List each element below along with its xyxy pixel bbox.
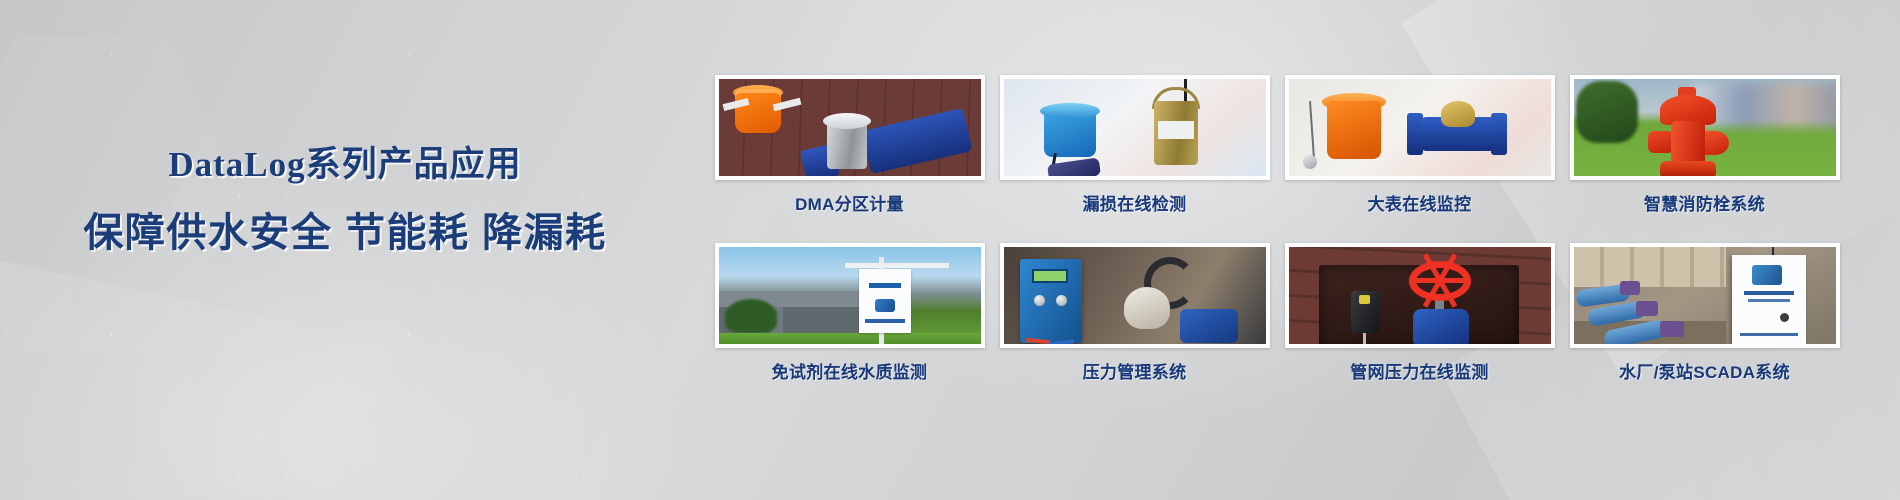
product-card-dma-zone-metering[interactable]: DMA分区计量 <box>707 75 992 215</box>
card-caption: 免试剂在线水质监测 <box>772 358 928 383</box>
card-caption: 管网压力在线监测 <box>1350 358 1488 383</box>
card-photo-frame <box>715 75 985 180</box>
card-caption: 漏损在线检测 <box>1083 190 1187 215</box>
hexagon-watermark <box>285 310 585 500</box>
waterworks-pump-scada-photo <box>1574 247 1836 344</box>
card-photo-frame <box>1285 243 1555 348</box>
product-card-scada-system[interactable]: 水厂/泵站SCADA系统 <box>1562 243 1847 383</box>
product-card-leak-online-detection[interactable]: 漏损在线检测 <box>992 75 1277 215</box>
smart-fire-hydrant-photo <box>1574 79 1836 176</box>
product-card-pressure-management[interactable]: 压力管理系统 <box>992 243 1277 383</box>
card-photo-frame <box>1285 75 1555 180</box>
dma-zone-metering-photo <box>719 79 981 176</box>
card-photo-frame <box>1000 75 1270 180</box>
product-card-water-quality-monitoring[interactable]: 免试剂在线水质监测 <box>707 243 992 383</box>
card-photo-frame <box>1000 243 1270 348</box>
card-caption: 智慧消防栓系统 <box>1644 190 1765 215</box>
promo-banner: DataLog系列产品应用 保障供水安全 节能耗 降漏耗 DMA分区计量 <box>0 0 1900 500</box>
hexagon-watermark <box>0 310 240 500</box>
product-card-pipe-network-pressure[interactable]: 管网压力在线监测 <box>1277 243 1562 383</box>
product-card-grid: DMA分区计量 漏损在线检测 <box>707 75 1847 383</box>
banner-headline: DataLog系列产品应用 保障供水安全 节能耗 降漏耗 <box>0 143 690 259</box>
card-photo-frame <box>1570 75 1840 180</box>
card-caption: DMA分区计量 <box>795 190 904 215</box>
card-photo-frame <box>1570 243 1840 348</box>
pressure-management-photo <box>1004 247 1266 344</box>
product-card-large-meter-monitoring[interactable]: 大表在线监控 <box>1277 75 1562 215</box>
card-caption: 压力管理系统 <box>1083 358 1187 383</box>
leak-online-detection-photo <box>1004 79 1266 176</box>
product-card-smart-fire-hydrant[interactable]: 智慧消防栓系统 <box>1562 75 1847 215</box>
card-caption: 水厂/泵站SCADA系统 <box>1619 358 1790 383</box>
light-streak <box>0 251 446 500</box>
card-caption: 大表在线监控 <box>1368 190 1472 215</box>
headline-line-2: 保障供水安全 节能耗 降漏耗 <box>0 207 690 259</box>
headline-line-1: DataLog系列产品应用 <box>0 143 690 187</box>
card-row-bottom: 免试剂在线水质监测 压力管理系统 <box>707 243 1847 383</box>
large-meter-monitoring-photo <box>1289 79 1551 176</box>
pipe-network-pressure-photo <box>1289 247 1551 344</box>
reagent-free-water-quality-photo <box>719 247 981 344</box>
card-photo-frame <box>715 243 985 348</box>
card-row-top: DMA分区计量 漏损在线检测 <box>707 75 1847 215</box>
